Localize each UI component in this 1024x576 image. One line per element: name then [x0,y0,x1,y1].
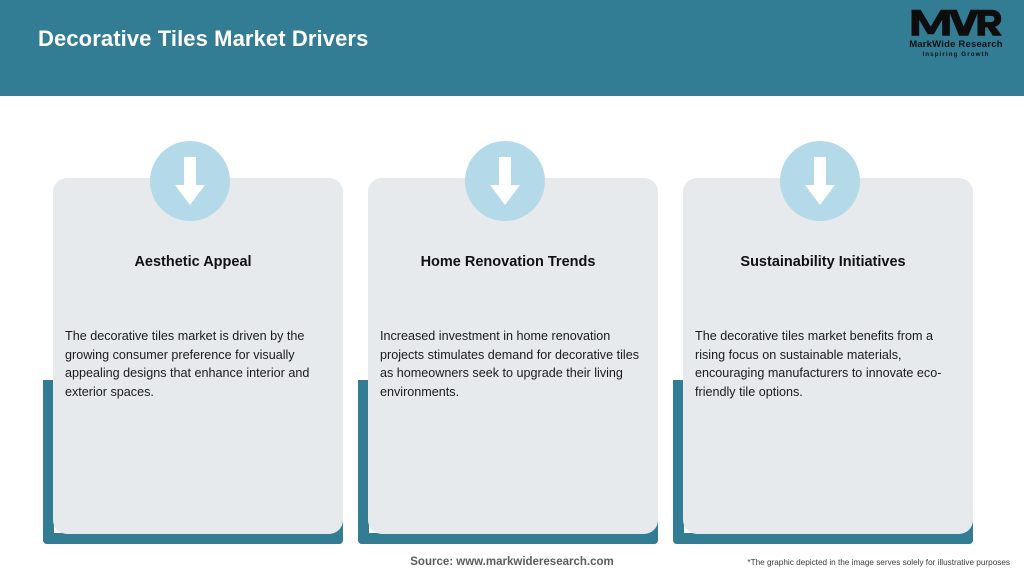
logo-company-name: MarkWide Research [909,39,1003,50]
card-body-text: Increased investment in home renovation … [380,327,642,401]
driver-card-2: Home Renovation Trends Increased investm… [358,96,658,552]
down-arrow-glyph [487,155,523,207]
down-arrow-icon [780,141,860,221]
card-title: Aesthetic Appeal [55,254,331,270]
driver-card-1: Aesthetic Appeal The decorative tiles ma… [43,96,343,552]
logo-tagline: Inspiring Growth [922,51,989,58]
company-logo: MarkWide Research Inspiring Growth [902,6,1010,64]
disclaimer-note: *The graphic depicted in the image serve… [747,558,1010,567]
card-body-text: The decorative tiles market is driven by… [65,327,327,401]
page-title: Decorative Tiles Market Drivers [38,26,368,52]
mwr-logo-icon [910,6,1002,38]
down-arrow-icon [465,141,545,221]
driver-cards-container: Aesthetic Appeal The decorative tiles ma… [0,96,1024,552]
card-title: Home Renovation Trends [370,254,646,270]
down-arrow-glyph [172,155,208,207]
down-arrow-icon [150,141,230,221]
down-arrow-glyph [802,155,838,207]
header-banner: Decorative Tiles Market Drivers MarkWide… [0,0,1024,96]
card-body-text: The decorative tiles market benefits fro… [695,327,957,401]
driver-card-3: Sustainability Initiatives The decorativ… [673,96,973,552]
card-title: Sustainability Initiatives [685,254,961,270]
